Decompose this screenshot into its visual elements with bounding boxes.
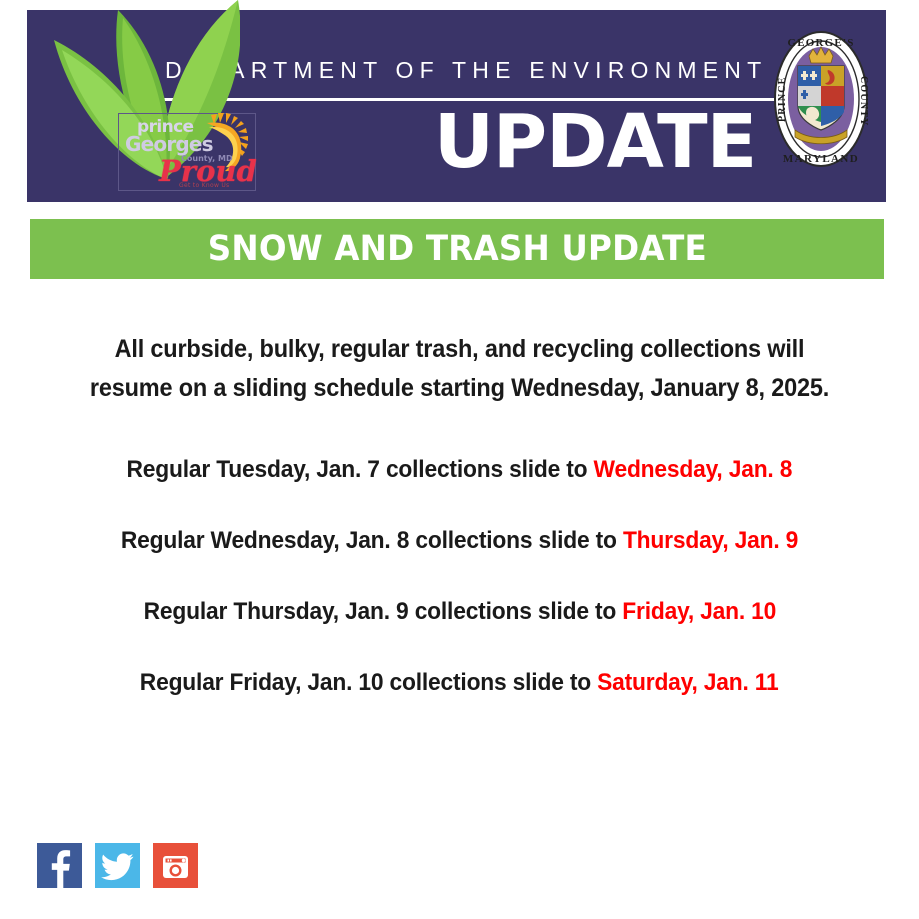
schedule-row: Regular Wednesday, Jan. 8 collections sl… [35,526,884,597]
schedule-new-day: Friday, Jan. 10 [622,598,776,625]
schedule-new-day: Thursday, Jan. 9 [623,527,798,554]
proud-logo-tagline: Get to Know Us [179,182,229,189]
twitter-icon [95,843,140,888]
twitter-link[interactable] [95,843,140,888]
intro-line-2: resume on a sliding schedule starting We… [65,369,854,408]
schedule-row: Regular Friday, Jan. 10 collections slid… [35,668,884,739]
schedule-new-day: Wednesday, Jan. 8 [594,456,793,483]
facebook-icon [37,843,82,888]
schedule-original-day: Regular Friday, Jan. 10 collections slid… [140,669,597,696]
snow-trash-update-banner: SNOW AND TRASH UPDATE [30,219,884,279]
schedule-original-day: Regular Wednesday, Jan. 8 collections sl… [121,527,623,554]
schedule-original-day: Regular Thursday, Jan. 9 collections sli… [143,598,622,625]
seal-right-text: COUNTY [858,76,869,127]
instagram-link[interactable] [153,843,198,888]
update-wordmark: UPDATE [430,99,760,185]
header-banner-region: DEPARTMENT OF THE ENVIRONMENT UPDATE [0,0,919,212]
seal-top-text: GEORGE'S [787,37,854,49]
intro-paragraph: All curbside, bulky, regular trash, and … [40,330,879,408]
social-links-bar [37,843,198,888]
seal-left-text: PRINCE [777,76,788,122]
schedule-original-day: Regular Tuesday, Jan. 7 collections slid… [127,456,594,483]
prince-georges-county-seal-icon: GEORGE'S MARYLAND PRINCE COUNTY [773,30,869,168]
proud-logo-line2: Georges [125,134,213,154]
schedule-row: Regular Thursday, Jan. 9 collections sli… [35,597,884,668]
department-title: DEPARTMENT OF THE ENVIRONMENT [165,57,765,84]
schedule-row: Regular Tuesday, Jan. 7 collections slid… [35,455,884,526]
facebook-link[interactable] [37,843,82,888]
schedule-list: Regular Tuesday, Jan. 7 collections slid… [35,455,884,739]
schedule-new-day: Saturday, Jan. 11 [597,669,778,696]
banner-title: SNOW AND TRASH UPDATE [207,229,706,269]
prince-georges-proud-logo: prince Georges County, MD Proud Get to K… [118,113,256,191]
intro-line-1: All curbside, bulky, regular trash, and … [65,330,854,369]
instagram-icon [153,843,198,888]
seal-bottom-text: MARYLAND [783,153,859,165]
